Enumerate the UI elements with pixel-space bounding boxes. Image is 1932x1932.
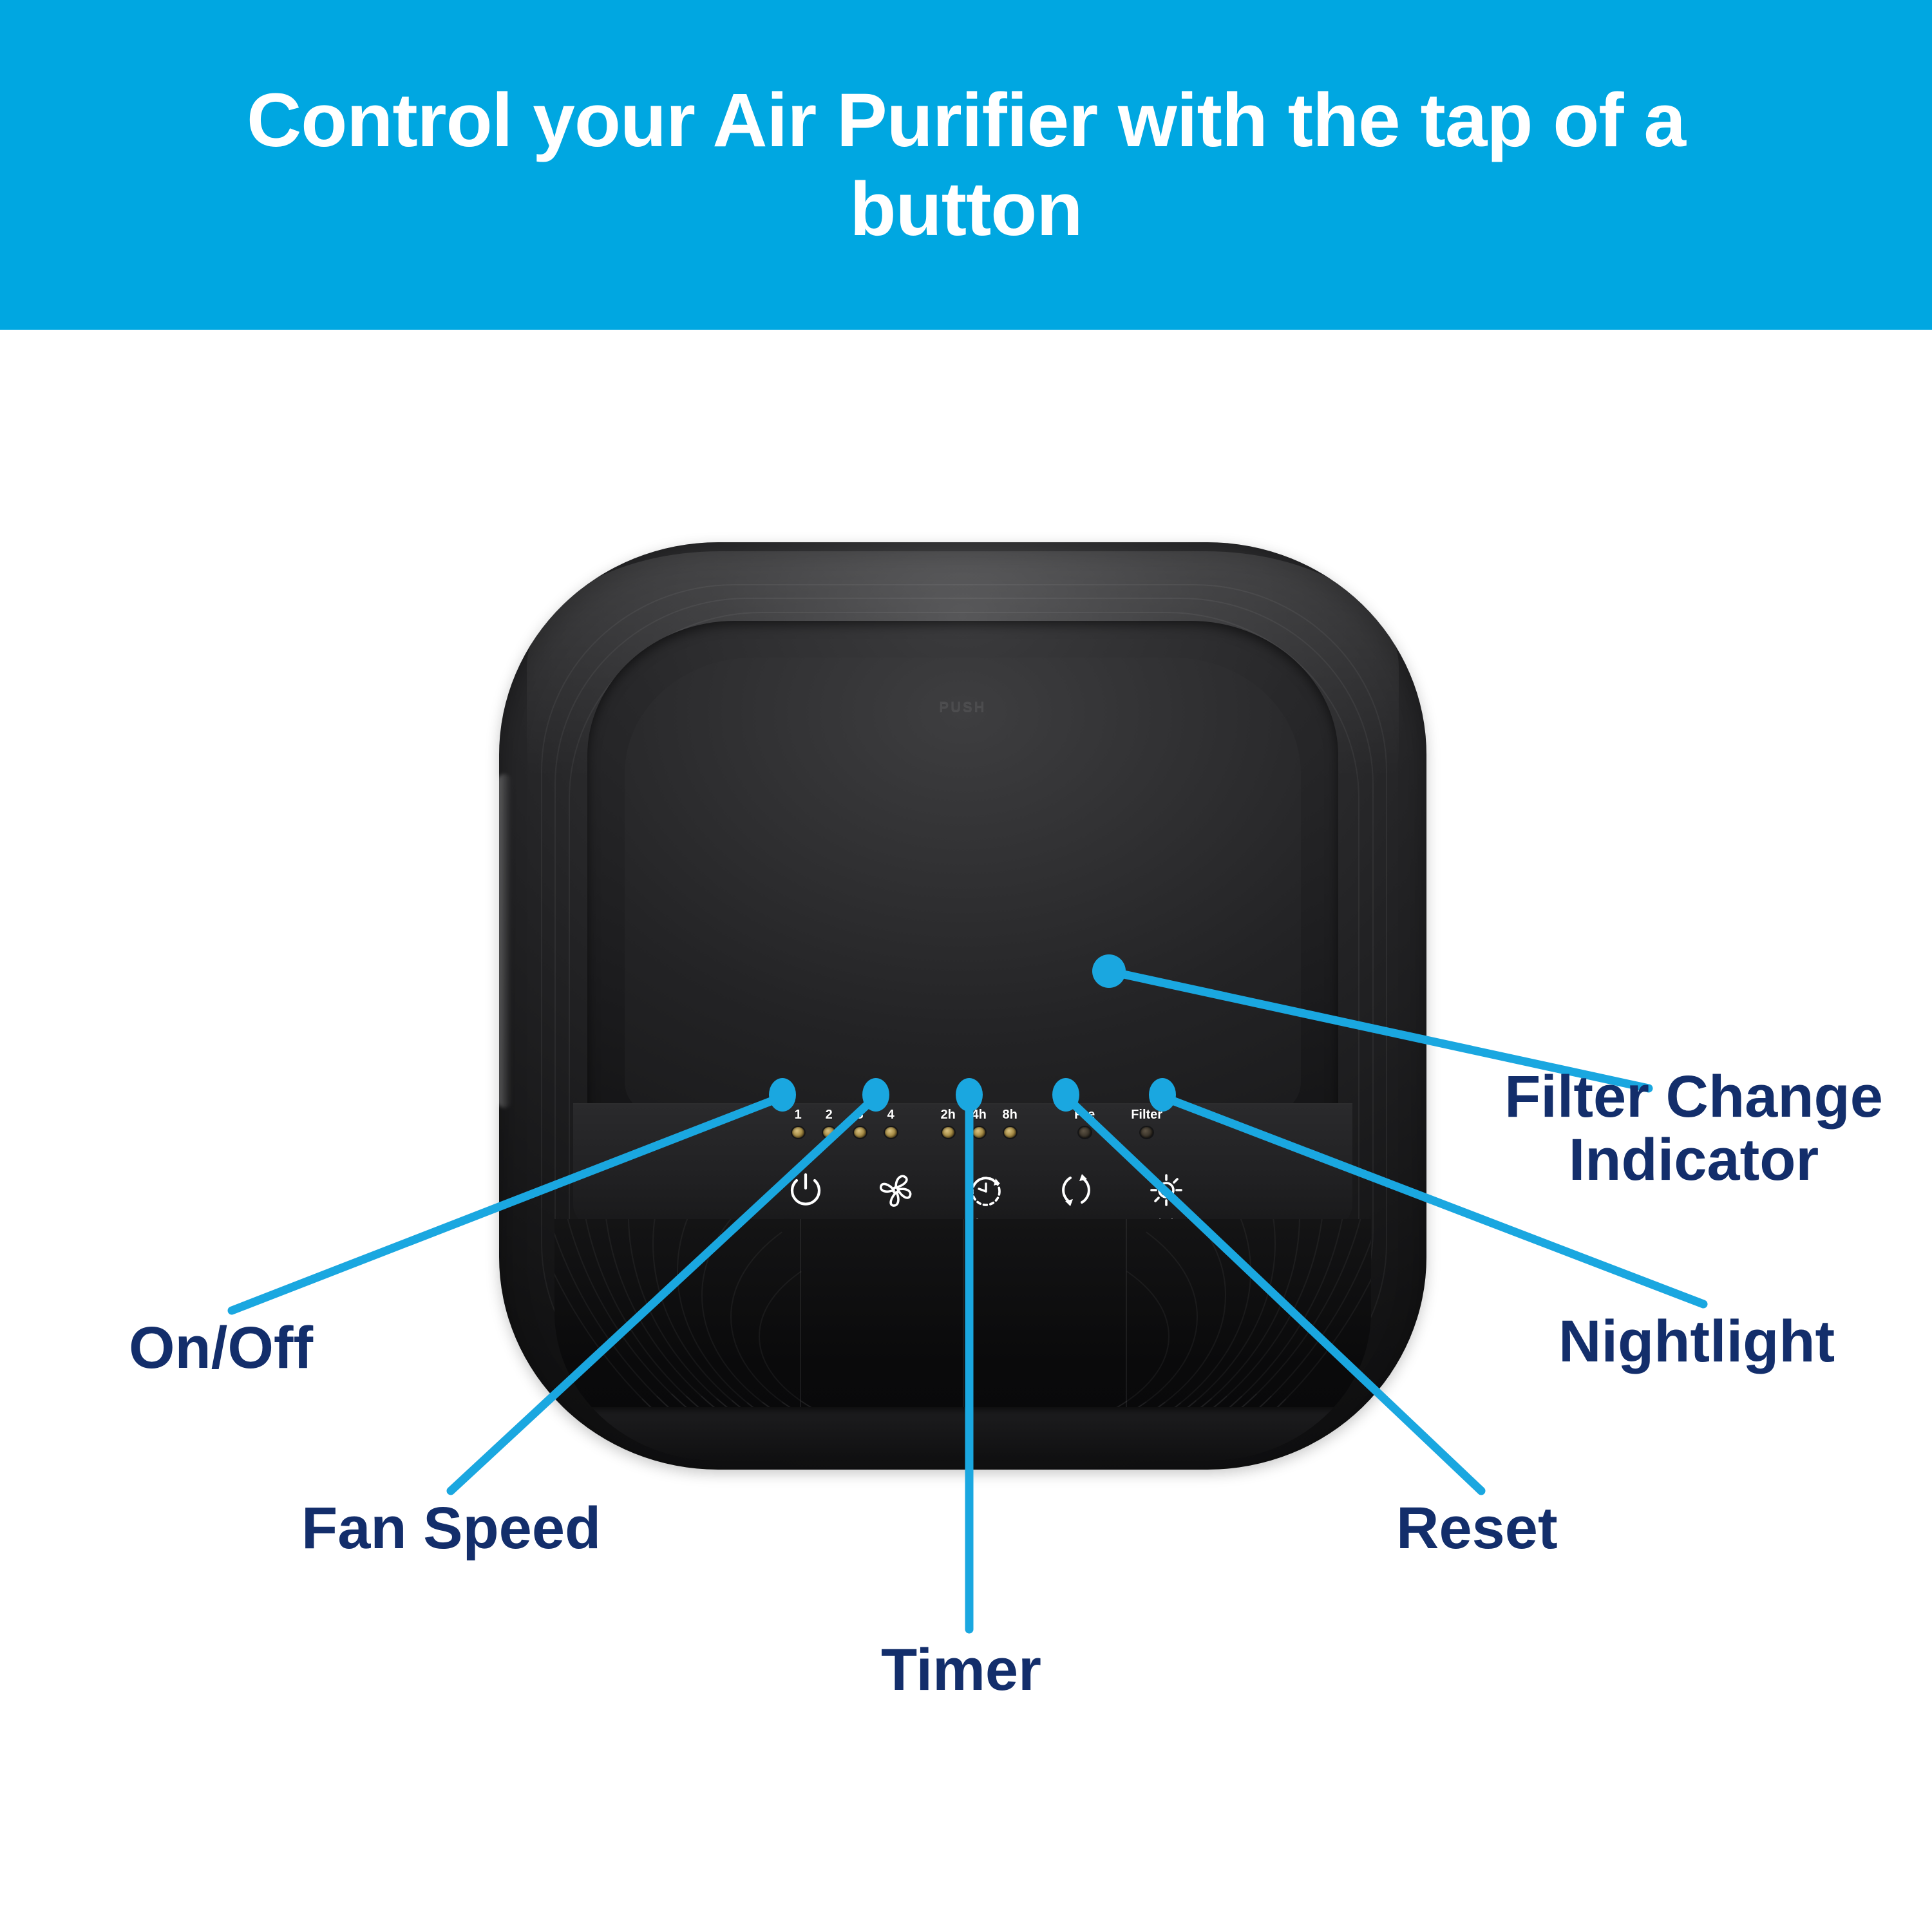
led-cell-fan-1: 1 [782, 1108, 813, 1138]
led-filter-change [1141, 1127, 1153, 1138]
led-timer-4h [973, 1127, 985, 1138]
led-pre-filter [1079, 1127, 1091, 1138]
filter-led-group: Pre Filter [1069, 1108, 1162, 1138]
push-label: PUSH [587, 699, 1338, 715]
led-cell-timer-2h: 2h [933, 1108, 963, 1138]
led-fan-3 [854, 1127, 866, 1138]
callout-label-filter-change: Filter Change Indicator [1488, 1066, 1900, 1191]
callout-label-fan-speed: Fan Speed [301, 1497, 601, 1560]
sun-light-icon [1118, 1166, 1215, 1214]
fan-icon [848, 1166, 944, 1214]
callout-label-reset: Reset [1396, 1497, 1558, 1560]
led-caption: Pre [1069, 1108, 1100, 1121]
air-outlet-grille [554, 1219, 1370, 1460]
shell-edge-highlight [497, 774, 511, 1108]
air-purifier-device: PUSH 1 2 3 [499, 542, 1426, 1470]
led-fan-4 [885, 1127, 897, 1138]
led-caption: 1 [782, 1108, 813, 1121]
grille-bottom-lip [587, 1407, 1338, 1460]
led-cell-timer-8h: 8h [994, 1108, 1025, 1138]
led-caption: 2 [813, 1108, 844, 1121]
reset-refresh-icon [1028, 1166, 1124, 1214]
timer-led-group: 2h 4h 8h [933, 1108, 1025, 1138]
led-timer-8h [1004, 1127, 1016, 1138]
callout-label-timer: Timer [881, 1639, 1041, 1702]
fan-speed-led-group: 1 2 3 4 [782, 1108, 906, 1138]
page-title: Control your Air Purifier with the tap o… [225, 76, 1707, 254]
callout-label-on-off: On/Off [129, 1317, 313, 1380]
led-caption: 3 [844, 1108, 875, 1121]
led-cell-pre-filter: Pre [1069, 1108, 1100, 1138]
led-timer-2h [942, 1127, 954, 1138]
purifier-lid[interactable]: PUSH [587, 621, 1338, 1140]
led-fan-1 [792, 1127, 804, 1138]
led-fan-2 [823, 1127, 835, 1138]
lid-inner-surface [625, 658, 1301, 1115]
led-caption: 4 [875, 1108, 906, 1121]
led-cell-fan-3: 3 [844, 1108, 875, 1138]
timer-clock-icon [938, 1166, 1034, 1214]
led-caption: 8h [994, 1108, 1025, 1121]
led-cell-fan-2: 2 [813, 1108, 844, 1138]
led-cell-fan-4: 4 [875, 1108, 906, 1138]
header-banner: Control your Air Purifier with the tap o… [0, 0, 1932, 330]
callout-label-nightlight: Nightlight [1558, 1311, 1835, 1374]
led-caption: 4h [963, 1108, 994, 1121]
led-caption: 2h [933, 1108, 963, 1121]
led-cell-timer-4h: 4h [963, 1108, 994, 1138]
power-icon [757, 1166, 854, 1214]
led-indicator-row: 1 2 3 4 [573, 1108, 1352, 1162]
led-caption: Filter [1131, 1108, 1162, 1121]
led-cell-filter-change: Filter [1131, 1108, 1162, 1138]
